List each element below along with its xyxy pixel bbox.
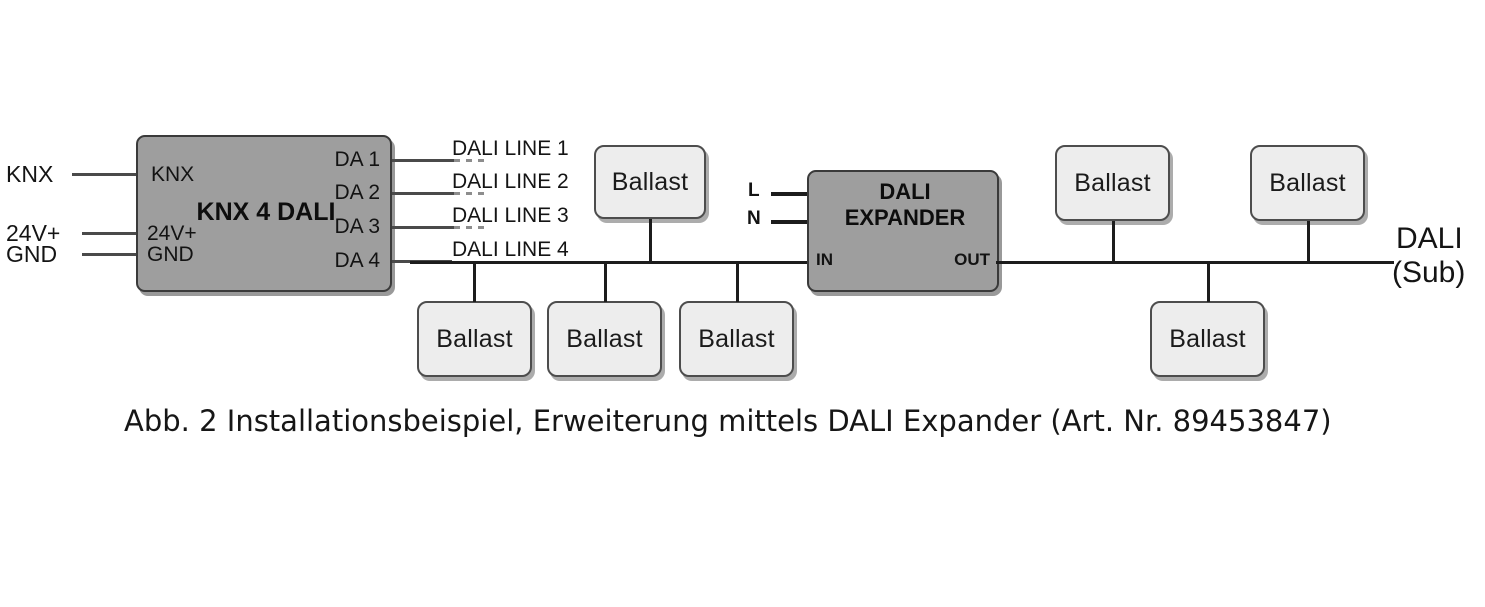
ballast-label: Ballast xyxy=(698,325,774,354)
sub-bus-label-line1: DALI xyxy=(1396,222,1463,256)
ballast-label: Ballast xyxy=(612,168,688,197)
ballast-label: Ballast xyxy=(436,325,512,354)
external-terminal-knx-label: KNX xyxy=(6,161,53,188)
device-knx-4-dali[interactable]: KNX 4 DALI KNX 24V+ GND DA 1 DA 2 DA 3 D… xyxy=(136,135,392,292)
ballast-primary-top-1[interactable]: Ballast xyxy=(594,145,706,219)
stem-ballast-sub-top-1 xyxy=(1112,221,1115,262)
lead-expander-l xyxy=(771,192,811,196)
pin-da-4: DA 4 xyxy=(334,249,380,273)
expander-pin-in: IN xyxy=(816,250,833,270)
ballast-primary-bottom-3[interactable]: Ballast xyxy=(679,301,794,377)
ballast-primary-bottom-1[interactable]: Ballast xyxy=(417,301,532,377)
ballast-sub-top-1[interactable]: Ballast xyxy=(1055,145,1170,221)
ballast-label: Ballast xyxy=(1169,325,1245,354)
lead-24v xyxy=(82,232,138,235)
expander-pin-out: OUT xyxy=(954,250,990,270)
ballast-label: Ballast xyxy=(566,325,642,354)
diagram-canvas: KNX 24V+ GND KNX 4 DALI KNX 24V+ GND DA … xyxy=(0,0,1485,607)
figure-caption: Abb. 2 Installationsbeispiel, Erweiterun… xyxy=(124,404,1332,438)
ballast-sub-top-2[interactable]: Ballast xyxy=(1250,145,1365,221)
wire-dali-line-1 xyxy=(392,159,454,162)
pin-knx: KNX xyxy=(151,163,194,187)
lead-gnd xyxy=(82,253,138,256)
device-dali-expander-title-line1: DALI xyxy=(809,180,1001,204)
label-dali-line-2: DALI LINE 2 xyxy=(452,170,569,194)
expander-pin-l-label: L xyxy=(748,180,760,202)
wire-dali-line-3 xyxy=(392,226,454,229)
pin-da-3: DA 3 xyxy=(334,215,380,239)
pin-gnd: GND xyxy=(147,243,194,267)
expander-pin-n-label: N xyxy=(747,208,761,230)
label-dali-line-1: DALI LINE 1 xyxy=(452,137,569,161)
external-terminal-gnd-label: GND xyxy=(6,241,57,268)
label-dali-line-3: DALI LINE 3 xyxy=(452,204,569,228)
device-dali-expander-title-line2: EXPANDER xyxy=(809,206,1001,230)
ballast-primary-bottom-2[interactable]: Ballast xyxy=(547,301,662,377)
ballast-label: Ballast xyxy=(1074,169,1150,198)
stem-ballast-sub-bottom-1 xyxy=(1207,261,1210,302)
ballast-sub-bottom-1[interactable]: Ballast xyxy=(1150,301,1265,377)
lead-expander-n xyxy=(771,220,811,224)
stem-ballast-primary-bottom-1 xyxy=(473,261,476,302)
label-dali-line-4: DALI LINE 4 xyxy=(452,238,569,262)
bus-primary xyxy=(410,261,810,264)
wire-dali-line-2 xyxy=(392,192,454,195)
stem-ballast-primary-bottom-2 xyxy=(604,261,607,302)
bus-sub xyxy=(996,261,1394,264)
lead-knx xyxy=(72,173,138,176)
stem-ballast-primary-top-1 xyxy=(649,219,652,262)
ballast-label: Ballast xyxy=(1269,169,1345,198)
sub-bus-label-line2: (Sub) xyxy=(1392,256,1465,290)
pin-da-2: DA 2 xyxy=(334,181,380,205)
device-dali-expander[interactable]: DALI EXPANDER IN OUT xyxy=(807,170,999,292)
stem-ballast-primary-bottom-3 xyxy=(736,261,739,302)
pin-da-1: DA 1 xyxy=(334,148,380,172)
stem-ballast-sub-top-2 xyxy=(1307,221,1310,262)
